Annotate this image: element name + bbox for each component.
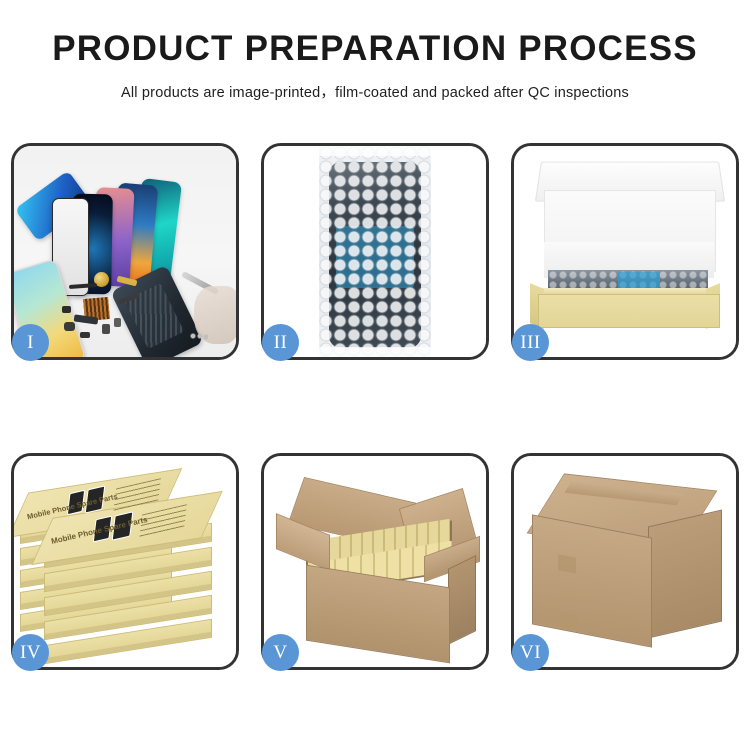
carton-side-panel [448, 555, 476, 645]
small-part-icon [80, 332, 90, 338]
step-panel-2: II [261, 143, 489, 360]
small-part-icon [102, 324, 110, 334]
step-panel-4: Mobile Phone Spare Parts Mobile Phone Sp… [11, 453, 239, 670]
step-badge-2: II [262, 324, 299, 361]
product-preparation-infographic: PRODUCT PREPARATION PROCESS All products… [0, 0, 750, 750]
step-panel-1: I [11, 143, 239, 360]
screws-icon [190, 332, 208, 340]
header: PRODUCT PREPARATION PROCESS All products… [0, 0, 750, 102]
step-image-bubble-wrapped [264, 146, 486, 357]
step-image-open-shipping-carton [264, 456, 486, 667]
box-front-panel [538, 294, 720, 328]
wrap-seal-bottom [319, 347, 431, 357]
step-badge-5: V [262, 634, 299, 671]
carton-front-panel [532, 514, 652, 647]
step-panel-5: V [261, 453, 489, 670]
page-subtitle: All products are image-printed，film-coat… [0, 81, 750, 102]
wrap-seal-top [319, 146, 431, 156]
box-stack: Mobile Phone Spare Parts Mobile Phone Sp… [16, 470, 236, 667]
sealed-carton [530, 482, 724, 648]
step-panel-6: VI [511, 453, 739, 670]
page-title: PRODUCT PREPARATION PROCESS [0, 30, 750, 69]
bubble-highlight-layer [319, 146, 431, 357]
step-image-products-and-parts [14, 146, 236, 357]
step-badge-4: IV [12, 634, 49, 671]
step-image-foam-lined-box [514, 146, 736, 357]
step-image-sealed-shipping-carton [514, 456, 736, 667]
step-badge-1: I [12, 324, 49, 361]
step-panel-3: III [511, 143, 739, 360]
step-badge-3: III [512, 324, 549, 361]
small-part-icon [64, 322, 75, 331]
small-part-icon [62, 306, 71, 313]
open-carton [278, 480, 474, 650]
steps-grid: I II [11, 143, 739, 670]
small-part-icon [114, 318, 121, 327]
step-image-stacked-retail-boxes: Mobile Phone Spare Parts Mobile Phone Sp… [14, 456, 236, 667]
step-badge-6: VI [512, 634, 549, 671]
carton-side-panel [648, 509, 722, 638]
carton-tab [560, 612, 578, 631]
carton-tab [558, 554, 576, 573]
